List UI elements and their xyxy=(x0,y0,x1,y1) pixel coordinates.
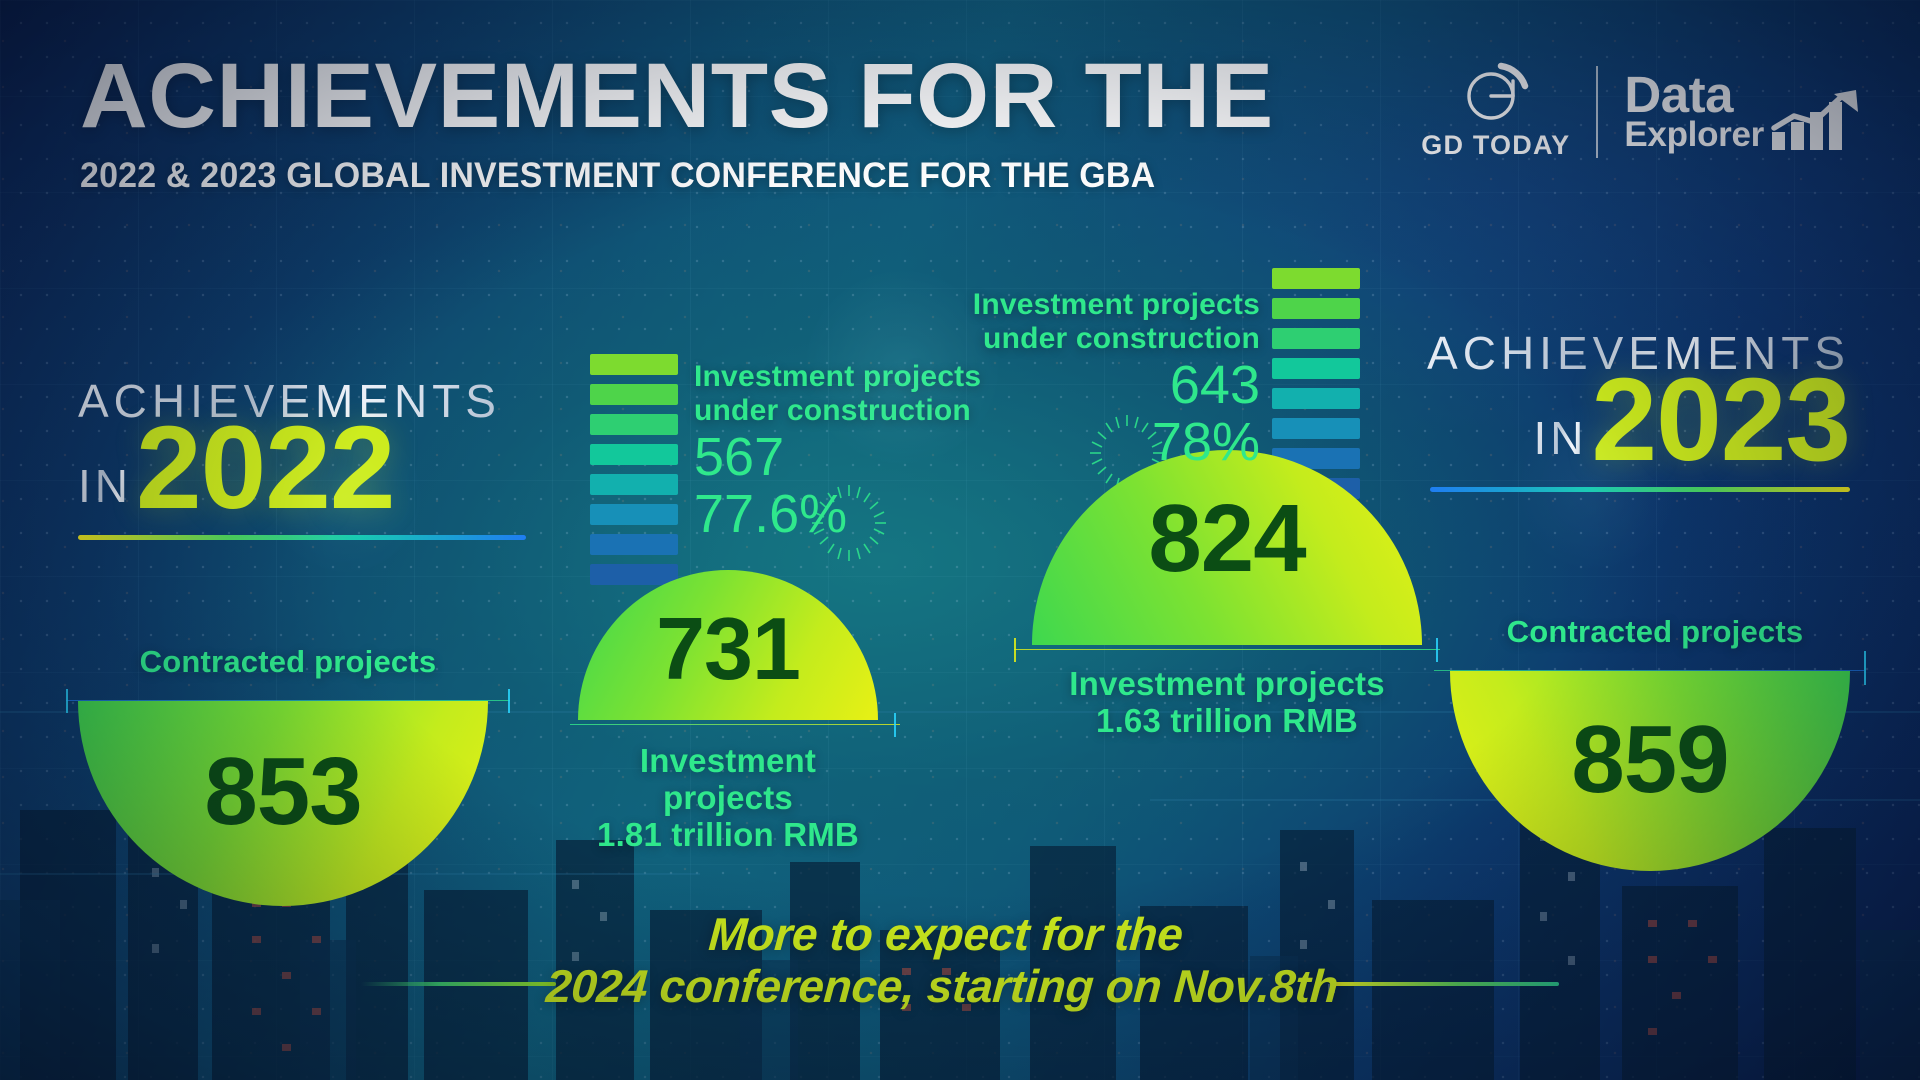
bar-segment xyxy=(1272,418,1360,439)
footer: More to expect for the 2024 conference, … xyxy=(0,909,1920,1012)
vertical-divider-icon xyxy=(1596,66,1598,158)
construction-2023-percent: 78% xyxy=(930,414,1260,471)
stat-contracted-2023: Contracted projects 859 xyxy=(1450,615,1860,871)
dome-853: 853 xyxy=(78,701,488,906)
dome-859: 859 xyxy=(1450,671,1850,871)
stat-construction-2023: Investment projects under construction 6… xyxy=(930,288,1260,472)
stat-investment-2023: 824 Investment projects 1.63 trillion RM… xyxy=(1032,450,1422,740)
construction-2022-percent: 77.6% xyxy=(694,486,847,543)
page-title: ACHIEVEMENTS FOR THE xyxy=(80,52,1528,140)
year-block-2022: ACHIEVEMENTS IN 2022 xyxy=(78,378,526,540)
brand-logo[interactable]: GD TODAY Data Explorer xyxy=(1421,62,1864,161)
investment-2023-label-1: Investment projects xyxy=(1032,666,1422,703)
stat-contracted-2022: Contracted projects 853 xyxy=(78,645,498,906)
axis-tick-right-859 xyxy=(1864,651,1866,685)
bar-segment xyxy=(590,444,678,465)
contracted-2022-value: 853 xyxy=(78,737,488,847)
footer-text: More to expect for the 2024 conference, … xyxy=(544,909,1343,1012)
bar-segment xyxy=(1272,298,1360,319)
bar-stack-2022 xyxy=(590,354,678,585)
in-word-left: IN xyxy=(78,463,132,519)
page-subtitle: 2022 & 2023 GLOBAL INVESTMENT CONFERENCE… xyxy=(80,156,1457,196)
year-underline-right xyxy=(1430,487,1850,492)
data-label: Data xyxy=(1624,71,1764,119)
gd-today-label: GD TODAY xyxy=(1421,130,1570,161)
year-label-2023: 2023 xyxy=(1591,370,1850,471)
investment-2023-value: 824 xyxy=(1032,484,1422,594)
year-underline-left xyxy=(78,535,526,540)
bar-segment xyxy=(1272,328,1360,349)
investment-2022-label-2: 1.81 trillion RMB xyxy=(578,817,878,854)
stat-investment-2022: 731 Investment projects 1.81 trillion RM… xyxy=(578,570,878,854)
infographic-canvas: ACHIEVEMENTS FOR THE 2022 & 2023 GLOBAL … xyxy=(0,0,1920,1080)
axis-tick-right-731 xyxy=(894,713,896,737)
contracted-2023-label: Contracted projects xyxy=(1450,615,1860,650)
bar-segment xyxy=(590,474,678,495)
axis-tick-left-853 xyxy=(66,689,68,713)
investment-2022-label-1: Investment projects xyxy=(578,743,878,817)
bar-segment xyxy=(590,354,678,375)
axis-tick-left-824 xyxy=(1014,638,1016,662)
bar-chart-arrow-icon xyxy=(1768,88,1864,152)
bar-segment xyxy=(1272,358,1360,379)
investment-2022-value: 731 xyxy=(578,598,878,700)
bar-segment xyxy=(590,504,678,525)
construction-2023-value: 643 xyxy=(930,357,1260,414)
investment-2023-label-2: 1.63 trillion RMB xyxy=(1032,703,1422,740)
contracted-2022-label: Contracted projects xyxy=(78,645,498,680)
data-explorer-logo[interactable]: Data Explorer xyxy=(1624,71,1864,152)
in-word-right: IN xyxy=(1533,415,1587,471)
footer-line-right xyxy=(1334,982,1559,986)
bar-segment xyxy=(1272,268,1360,289)
bar-segment xyxy=(590,384,678,405)
dome-731: 731 xyxy=(578,570,878,720)
footer-line-left xyxy=(361,982,556,986)
year-block-2023: ACHIEVEMENTS IN 2023 xyxy=(1427,330,1850,492)
dome-824: 824 xyxy=(1032,450,1422,645)
header: ACHIEVEMENTS FOR THE 2022 & 2023 GLOBAL … xyxy=(80,52,1500,196)
bar-segment xyxy=(590,534,678,555)
circular-g-icon xyxy=(1455,62,1537,124)
bar-segment xyxy=(590,414,678,435)
year-label-2022: 2022 xyxy=(136,418,395,519)
axis-tick-right-853 xyxy=(508,689,510,713)
construction-2023-label-2: under construction xyxy=(930,322,1260,356)
explorer-label: Explorer xyxy=(1624,119,1764,152)
footer-line2: 2024 conference, starting on Nov.8th xyxy=(544,960,1339,1012)
footer-line1: More to expect for the xyxy=(548,909,1343,961)
axis-line-731 xyxy=(570,724,900,725)
axis-tick-right-824 xyxy=(1436,638,1438,662)
construction-2023-label-1: Investment projects xyxy=(930,288,1260,322)
gd-today-logo[interactable]: GD TODAY xyxy=(1421,62,1570,161)
axis-line-824 xyxy=(1014,649,1440,650)
contracted-2023-value: 859 xyxy=(1450,705,1850,815)
bar-segment xyxy=(1272,388,1360,409)
